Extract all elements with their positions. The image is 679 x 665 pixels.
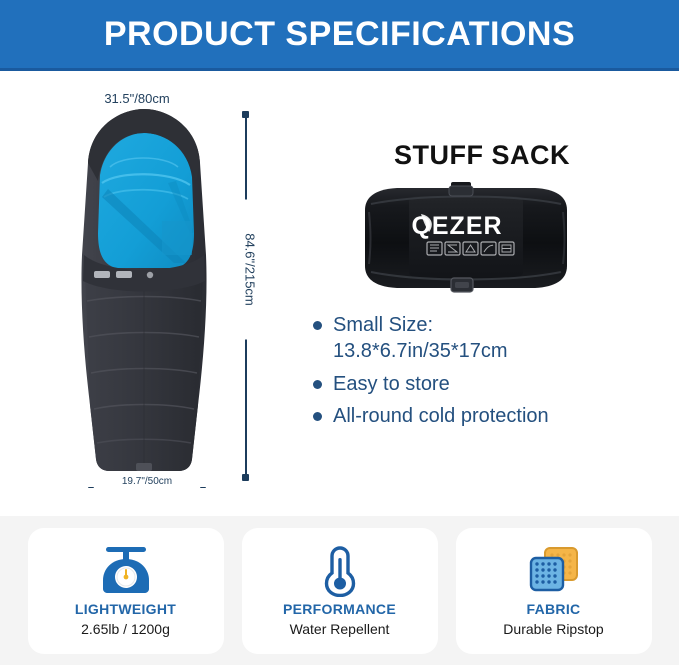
sack-buckle-slot (455, 282, 469, 288)
sleeping-bag-panel: 31.5"/80cm (0, 71, 270, 516)
list-item-label: All-round cold protection (333, 403, 549, 429)
kitchen-scale-icon (97, 544, 155, 598)
feature-card-title: FABRIC (527, 601, 581, 617)
page-title: PRODUCT SPECIFICATIONS (104, 15, 575, 54)
dimension-endpoint-bottom-icon (242, 474, 249, 481)
feature-card-title: PERFORMANCE (283, 601, 396, 617)
feature-card-subtitle: 2.65lb / 1200g (81, 621, 170, 637)
bullet-dot-icon (313, 380, 322, 389)
feature-card-title: LIGHTWEIGHT (75, 601, 176, 617)
dimension-endpoint-top-icon (242, 111, 249, 118)
list-item-label: Easy to store (333, 371, 450, 397)
zipper-tag-icon (94, 271, 110, 278)
feature-card-subtitle: Durable Ripstop (503, 621, 603, 637)
feature-card-fabric: FABRIC Durable Ripstop (456, 528, 652, 654)
stuff-sack-feature-list: Small Size: 13.8*6.7in/35*17cm Easy to s… (313, 312, 679, 435)
sack-top-buckle-icon (449, 186, 473, 196)
list-item-label: Small Size: (333, 314, 433, 336)
foot-box-tab (136, 463, 152, 471)
bullet-dot-icon (313, 321, 322, 330)
feature-card-strip: LIGHTWEIGHT 2.65lb / 1200g PERFORMANCE W… (0, 516, 679, 665)
bullet-dot-icon (313, 412, 322, 421)
dimension-side-label: 84.6"/215cm (242, 200, 259, 340)
zipper-slider-icon (147, 272, 153, 278)
dimension-bottom-width: 19.7"/50cm (88, 479, 206, 493)
list-item: All-round cold protection (313, 403, 679, 429)
list-item-sublabel: 13.8*6.7in/35*17cm (333, 338, 508, 365)
stuff-sack-panel: STUFF SACK QEZER (285, 130, 679, 460)
feature-card-subtitle: Water Repellent (290, 621, 390, 637)
list-item: Small Size: 13.8*6.7in/35*17cm (313, 312, 679, 365)
stuff-sack-illustration: QEZER (351, 182, 579, 294)
ripstop-fabric-icon (525, 544, 583, 598)
feature-card-lightweight: LIGHTWEIGHT 2.65lb / 1200g (28, 528, 224, 654)
page-header-banner: PRODUCT SPECIFICATIONS (0, 0, 679, 71)
stuff-sack-title: STUFF SACK (285, 140, 679, 171)
list-item: Easy to store (313, 371, 679, 397)
dimension-side-height: 84.6"/215cm (234, 111, 258, 481)
dimension-top-label: 31.5"/80cm (62, 91, 212, 106)
zipper-tag-icon (116, 271, 132, 278)
sleeping-bag-illustration (58, 105, 230, 477)
dimension-bottom-label: 19.7"/50cm (88, 476, 206, 487)
feature-card-performance: PERFORMANCE Water Repellent (242, 528, 438, 654)
thermometer-icon (318, 544, 362, 598)
lining-pocket (162, 221, 192, 255)
